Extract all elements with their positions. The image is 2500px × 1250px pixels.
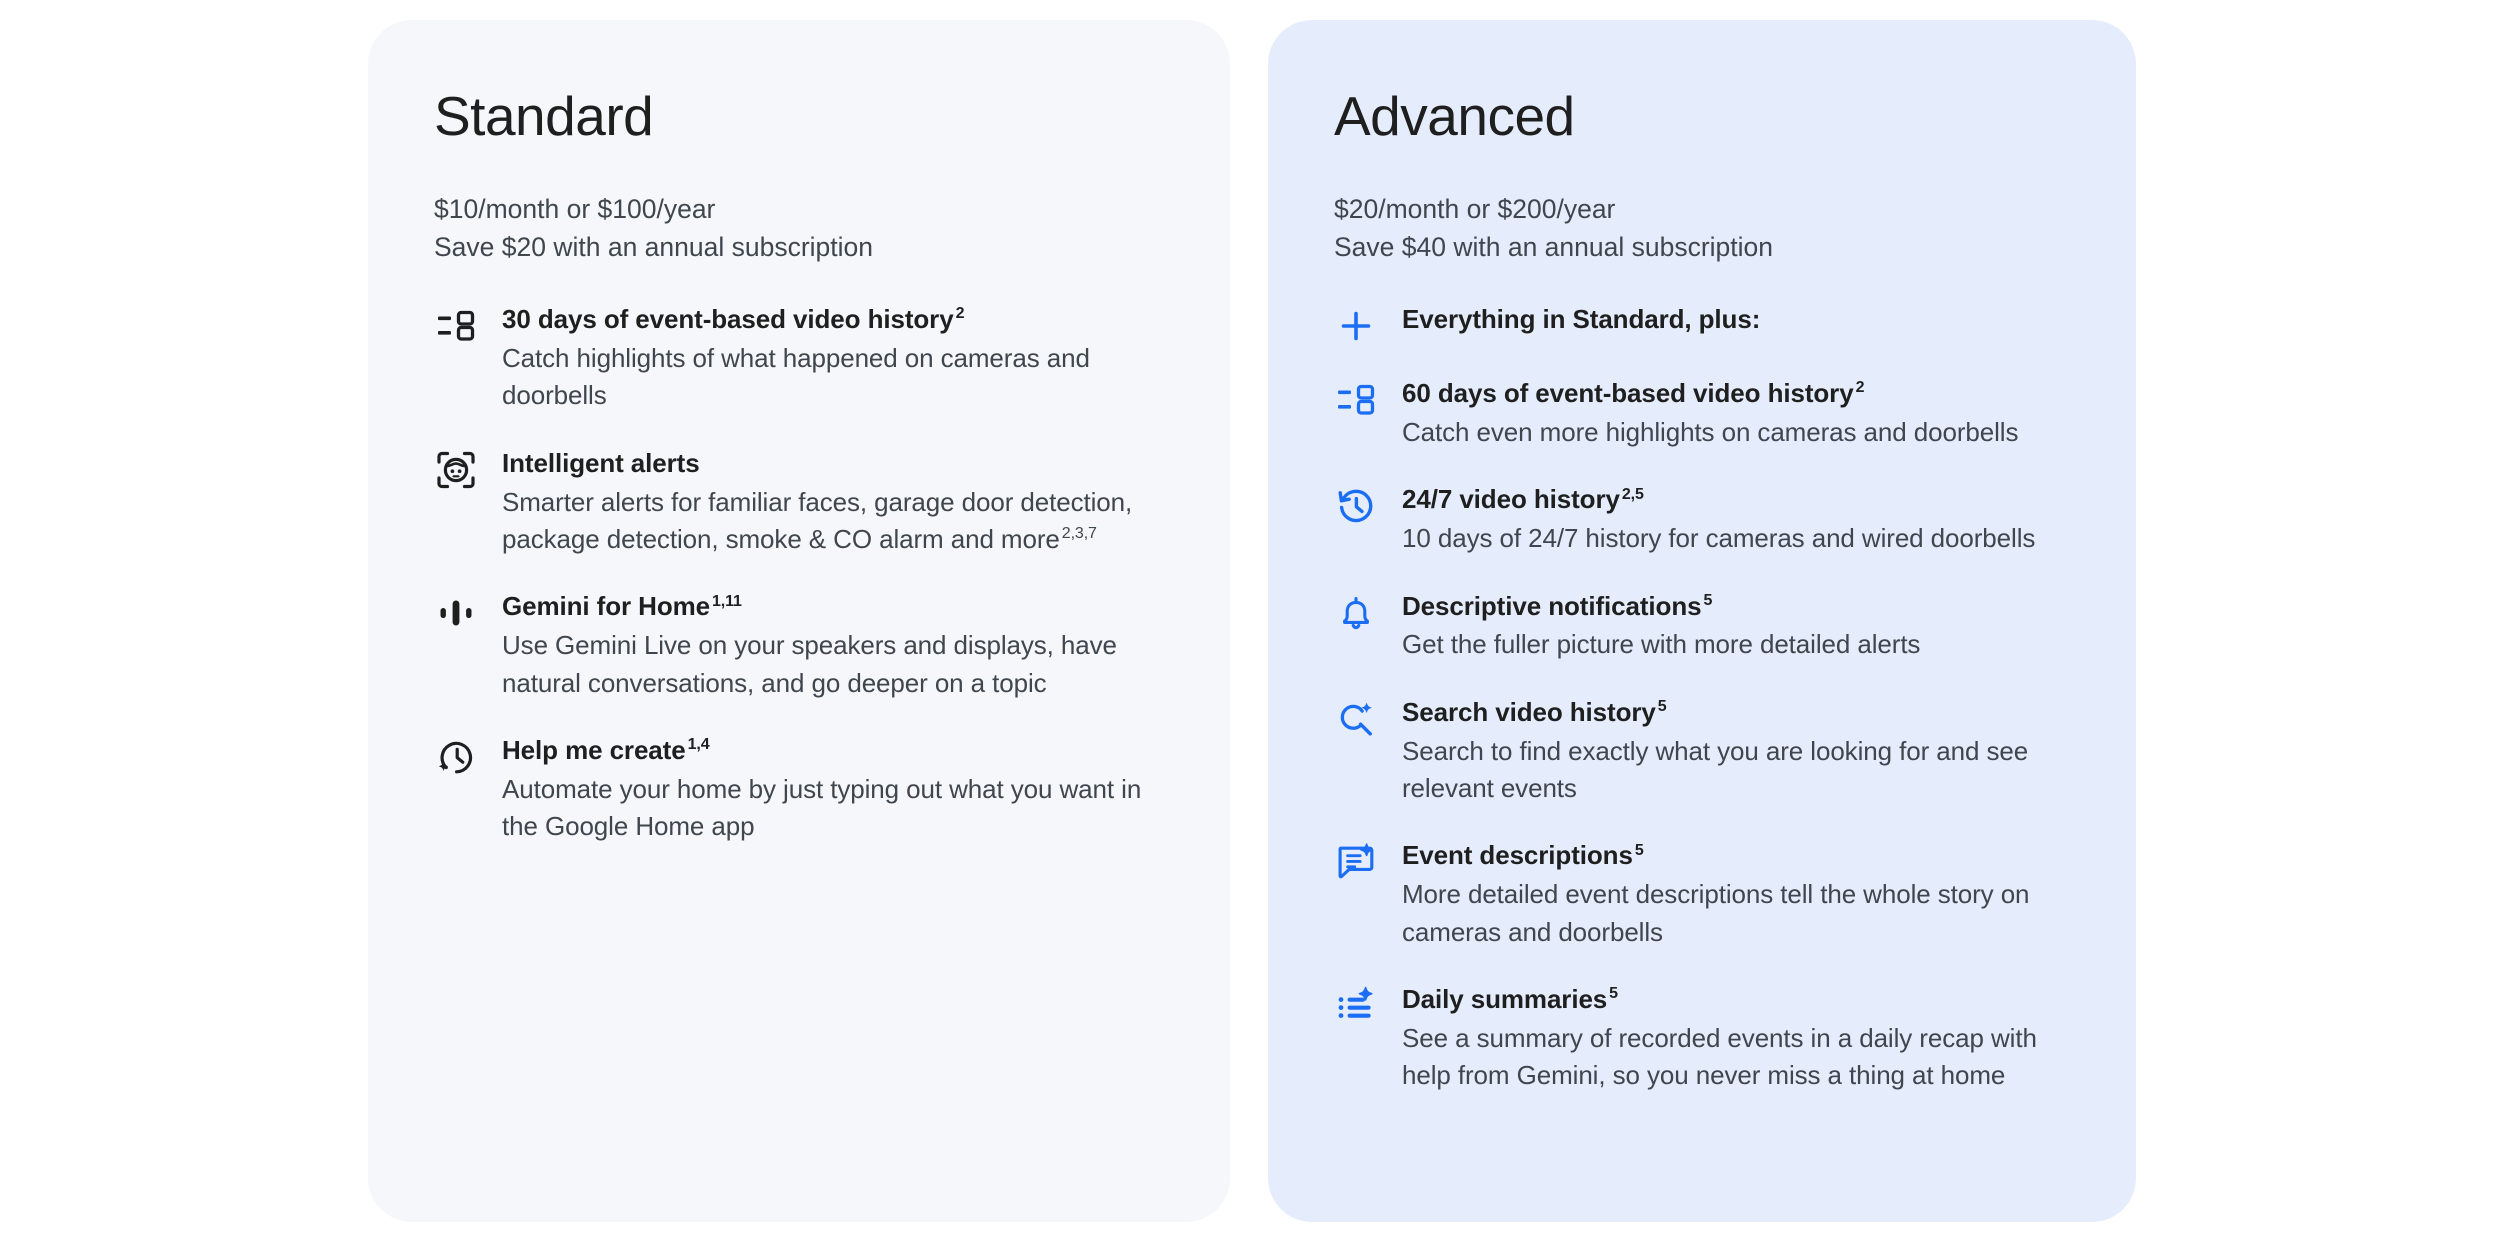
- bell-icon: [1334, 591, 1378, 635]
- plan-price-advanced: $20/month or $200/year Save $40 with an …: [1334, 190, 2076, 266]
- feature-description: Smarter alerts for familiar faces, garag…: [502, 484, 1170, 559]
- footnote-marker: 2: [1856, 379, 1865, 396]
- waveform-icon: [434, 591, 478, 635]
- feature-title: Gemini for Home1,11: [502, 590, 1170, 624]
- feature-item: Gemini for Home1,11Use Gemini Live on yo…: [434, 589, 1170, 702]
- feature-title: 24/7 video history2,5: [1402, 483, 2076, 517]
- feature-body: Event descriptions5More detailed event d…: [1402, 838, 2076, 951]
- feature-description: Catch highlights of what happened on cam…: [502, 340, 1170, 415]
- feature-title: Search video history5: [1402, 696, 2076, 730]
- feature-list-advanced: Everything in Standard, plus: 60 days of…: [1334, 302, 2076, 1095]
- page-title-advanced: Advanced: [1334, 88, 2076, 146]
- feature-title: 60 days of event-based video history2: [1402, 377, 2076, 411]
- feature-item: Descriptive notifications5Get the fuller…: [1334, 589, 2076, 664]
- plan-comparison: Standard $10/month or $100/year Save $20…: [0, 0, 2500, 1250]
- footnote-marker: 2,3,7: [1062, 525, 1097, 542]
- feature-title: Daily summaries5: [1402, 983, 2076, 1017]
- face-scan-icon: [434, 448, 478, 492]
- event-video-history-icon: [1334, 378, 1378, 422]
- footnote-marker: 1,4: [688, 736, 710, 753]
- footnote-marker: 5: [1703, 592, 1712, 609]
- footnote-marker: 1,11: [712, 593, 742, 610]
- list-sparkle-icon: [1334, 984, 1378, 1028]
- chat-description-sparkle-icon: [1334, 840, 1378, 884]
- feature-item: 60 days of event-based video history2Cat…: [1334, 376, 2076, 451]
- feature-description: See a summary of recorded events in a da…: [1402, 1020, 2076, 1095]
- plan-price-standard: $10/month or $100/year Save $20 with an …: [434, 190, 1170, 266]
- feature-list-standard: 30 days of event-based video history2Cat…: [434, 302, 1170, 846]
- feature-title: 30 days of event-based video history2: [502, 303, 1170, 337]
- feature-body: Descriptive notifications5Get the fuller…: [1402, 589, 2076, 664]
- feature-item: Intelligent alertsSmarter alerts for fam…: [434, 446, 1170, 559]
- feature-body: Search video history5Search to find exac…: [1402, 695, 2076, 808]
- feature-description: Use Gemini Live on your speakers and dis…: [502, 627, 1170, 702]
- feature-title: Descriptive notifications5: [1402, 590, 2076, 624]
- feature-item: Event descriptions5More detailed event d…: [1334, 838, 2076, 951]
- feature-item: Help me create1,4Automate your home by j…: [434, 733, 1170, 846]
- feature-body: Gemini for Home1,11Use Gemini Live on yo…: [502, 589, 1170, 702]
- feature-description: Catch even more highlights on cameras an…: [1402, 414, 2076, 451]
- footnote-marker: 5: [1658, 698, 1667, 715]
- feature-item: Daily summaries5See a summary of recorde…: [1334, 982, 2076, 1095]
- footnote-marker: 5: [1635, 842, 1644, 859]
- search-sparkle-icon: [1334, 697, 1378, 741]
- clock-sparkle-icon: [434, 735, 478, 779]
- footnote-marker: 2,5: [1622, 486, 1644, 503]
- feature-description: Search to find exactly what you are look…: [1402, 733, 2076, 808]
- feature-title: Event descriptions5: [1402, 839, 2076, 873]
- feature-body: 24/7 video history2,510 days of 24/7 his…: [1402, 482, 2076, 557]
- feature-description: Get the fuller picture with more detaile…: [1402, 626, 2076, 663]
- plan-card-standard: Standard $10/month or $100/year Save $20…: [368, 20, 1230, 1222]
- feature-description: 10 days of 24/7 history for cameras and …: [1402, 520, 2076, 557]
- price-savings: Save $40 with an annual subscription: [1334, 228, 2076, 266]
- feature-body: Daily summaries5See a summary of recorde…: [1402, 982, 2076, 1095]
- feature-item: Search video history5Search to find exac…: [1334, 695, 2076, 808]
- feature-item: 30 days of event-based video history2Cat…: [434, 302, 1170, 415]
- price-monthly-yearly: $10/month or $100/year: [434, 190, 1170, 228]
- price-monthly-yearly: $20/month or $200/year: [1334, 190, 2076, 228]
- event-video-history-icon: [434, 304, 478, 348]
- history-clock-icon: [1334, 484, 1378, 528]
- plus-icon: [1334, 304, 1378, 348]
- feature-body: Help me create1,4Automate your home by j…: [502, 733, 1170, 846]
- feature-title: Everything in Standard, plus:: [1402, 303, 2076, 337]
- feature-body: 30 days of event-based video history2Cat…: [502, 302, 1170, 415]
- page-title-standard: Standard: [434, 88, 1170, 146]
- feature-body: 60 days of event-based video history2Cat…: [1402, 376, 2076, 451]
- feature-item: Everything in Standard, plus:: [1334, 302, 2076, 348]
- price-savings: Save $20 with an annual subscription: [434, 228, 1170, 266]
- feature-title: Intelligent alerts: [502, 447, 1170, 481]
- footnote-marker: 5: [1609, 985, 1618, 1002]
- feature-item: 24/7 video history2,510 days of 24/7 his…: [1334, 482, 2076, 557]
- feature-description: Automate your home by just typing out wh…: [502, 771, 1170, 846]
- feature-title: Help me create1,4: [502, 734, 1170, 768]
- feature-description: More detailed event descriptions tell th…: [1402, 876, 2076, 951]
- plan-card-advanced: Advanced $20/month or $200/year Save $40…: [1268, 20, 2136, 1222]
- feature-body: Everything in Standard, plus:: [1402, 302, 2076, 337]
- feature-body: Intelligent alertsSmarter alerts for fam…: [502, 446, 1170, 559]
- footnote-marker: 2: [956, 305, 965, 322]
